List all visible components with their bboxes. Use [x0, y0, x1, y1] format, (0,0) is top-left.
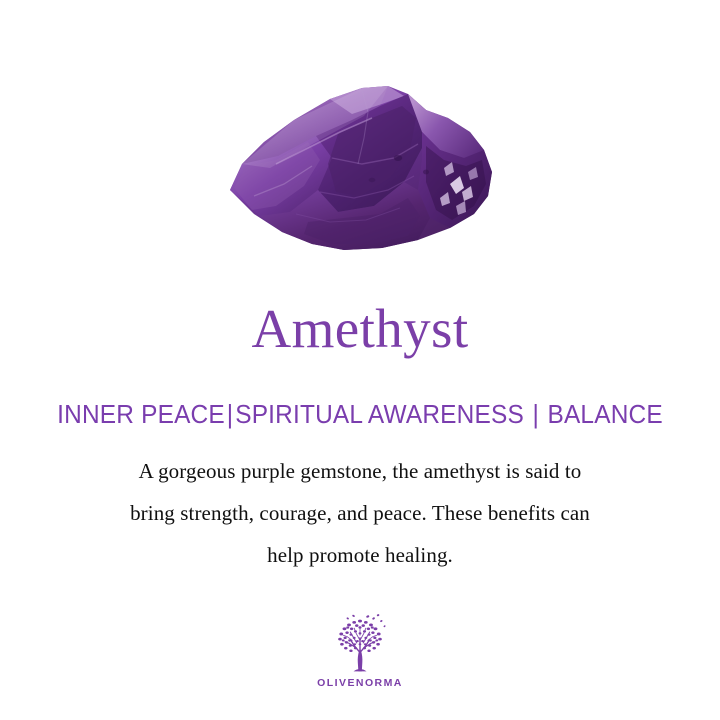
description-text: A gorgeous purple gemstone, the amethyst…	[50, 450, 670, 576]
description-line: A gorgeous purple gemstone, the amethyst…	[50, 450, 670, 492]
keyword-separator: |	[225, 399, 235, 429]
page-title: Amethyst	[0, 296, 720, 362]
hero-image-area	[0, 0, 720, 285]
description-line: bring strength, courage, and peace. Thes…	[50, 492, 670, 534]
brand-name: OLIVENORMA	[0, 677, 720, 689]
description-line: help promote healing.	[50, 534, 670, 576]
keyword-separator: |	[524, 399, 547, 429]
tree-of-life-icon	[327, 612, 393, 674]
amethyst-info-card: Amethyst INNER PEACE|SPIRITUAL AWARENESS…	[0, 0, 720, 720]
keyword-inner-peace: INNER PEACE	[57, 399, 225, 429]
raw-amethyst-crystal	[212, 72, 512, 272]
keyword-list: INNER PEACE|SPIRITUAL AWARENESS|BALANCE	[22, 398, 699, 430]
keyword-balance: BALANCE	[547, 399, 662, 429]
keyword-spiritual-awareness: SPIRITUAL AWARENESS	[235, 399, 524, 429]
brand-lockup: OLIVENORMA	[0, 612, 720, 689]
